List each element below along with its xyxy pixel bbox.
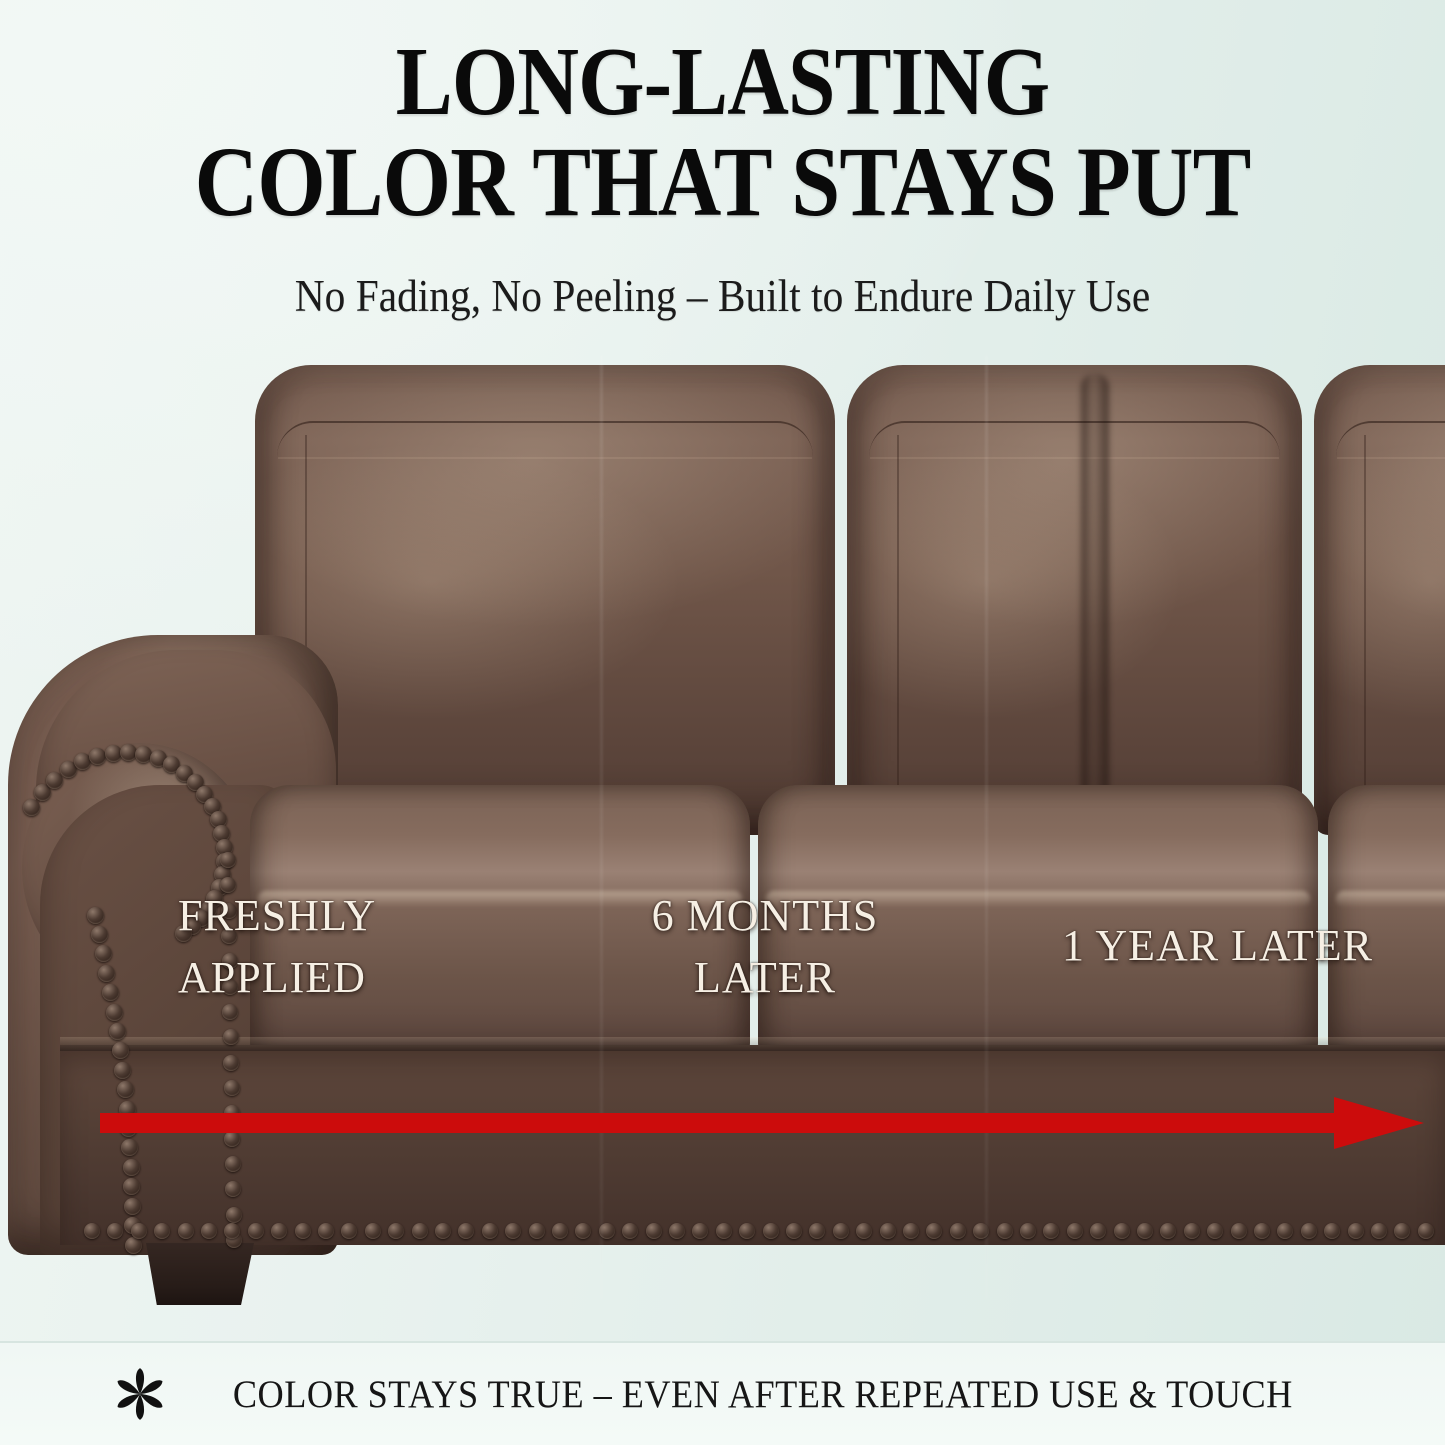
sofa-base-skirt — [60, 1045, 1445, 1245]
back-cushion-left — [255, 365, 835, 835]
stage-label-6-months-later: 6 MONTHS LATER — [630, 885, 900, 1010]
sofa-back-cushions — [255, 365, 1445, 845]
headline-line-2: COLOR THAT STAYS PUT — [87, 134, 1359, 229]
back-cushion-seam-1 — [1081, 373, 1109, 845]
stage-label-freshly-applied: FRESHLY APPLIED — [178, 885, 376, 1010]
back-cushion-right — [1314, 365, 1445, 835]
headline-line-1: LONG-LASTING — [87, 36, 1359, 128]
infographic-canvas: LONG-LASTING COLOR THAT STAYS PUT No Fad… — [0, 0, 1445, 1445]
page-subtitle: No Fading, No Peeling – Built to Endure … — [58, 270, 1387, 322]
footer-tagline: COLOR STAYS TRUE – EVEN AFTER REPEATED U… — [233, 1372, 1293, 1417]
sofa-wooden-leg — [146, 1243, 254, 1305]
page-title: LONG-LASTING COLOR THAT STAYS PUT — [87, 36, 1359, 229]
sofa-product-image — [0, 355, 1445, 1300]
footer-banner: COLOR STAYS TRUE – EVEN AFTER REPEATED U… — [0, 1341, 1445, 1445]
stage-label-1-year-later: 1 YEAR LATER — [1062, 915, 1373, 977]
back-cushion-middle — [847, 365, 1302, 835]
sofa-skirt-welt — [60, 1037, 1445, 1051]
flower-asterisk-icon — [113, 1367, 167, 1421]
time-division-seam-2 — [985, 355, 988, 1300]
time-division-seam-1 — [600, 355, 603, 1300]
